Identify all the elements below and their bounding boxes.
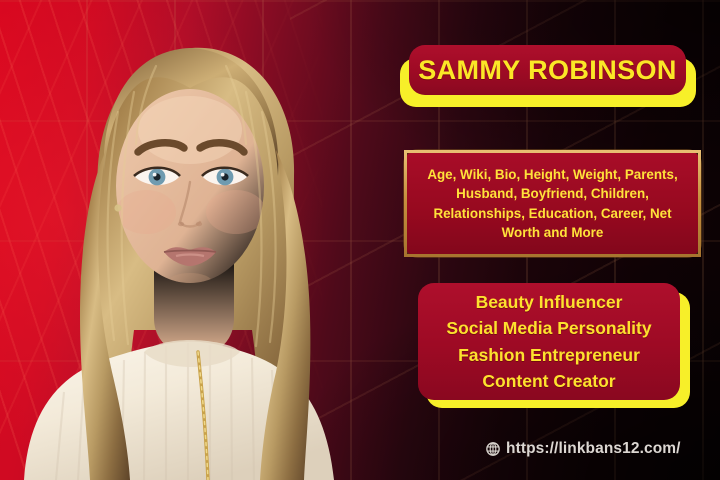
portrait-illustration [0,0,394,480]
role-line: Fashion Entrepreneur [446,342,651,368]
url-text: https://linkbans12.com/ [506,440,681,458]
portrait-photo [0,0,394,480]
details-line: Relationships, Education, Career, Net [427,204,677,223]
roles-panel: Beauty Influencer Social Media Personali… [418,283,680,400]
role-line: Content Creator [446,368,651,394]
details-text-block: Age, Wiki, Bio, Height, Weight, Parents,… [427,165,677,241]
website-url[interactable]: https://linkbans12.com/ [486,440,681,458]
details-line: Husband, Boyfriend, Children, [427,184,677,203]
roles-text-block: Beauty Influencer Social Media Personali… [446,289,651,394]
role-line: Social Media Personality [446,315,651,341]
globe-icon [486,442,500,456]
banner-canvas: SAMMY ROBINSON Age, Wiki, Bio, Height, W… [0,0,720,480]
page-title: SAMMY ROBINSON [418,55,677,86]
title-banner: SAMMY ROBINSON [409,45,686,95]
details-line: Worth and More [427,223,677,242]
details-line: Age, Wiki, Bio, Height, Weight, Parents, [427,165,677,184]
earring [114,204,121,211]
details-panel: Age, Wiki, Bio, Height, Weight, Parents,… [404,150,701,257]
role-line: Beauty Influencer [446,289,651,315]
